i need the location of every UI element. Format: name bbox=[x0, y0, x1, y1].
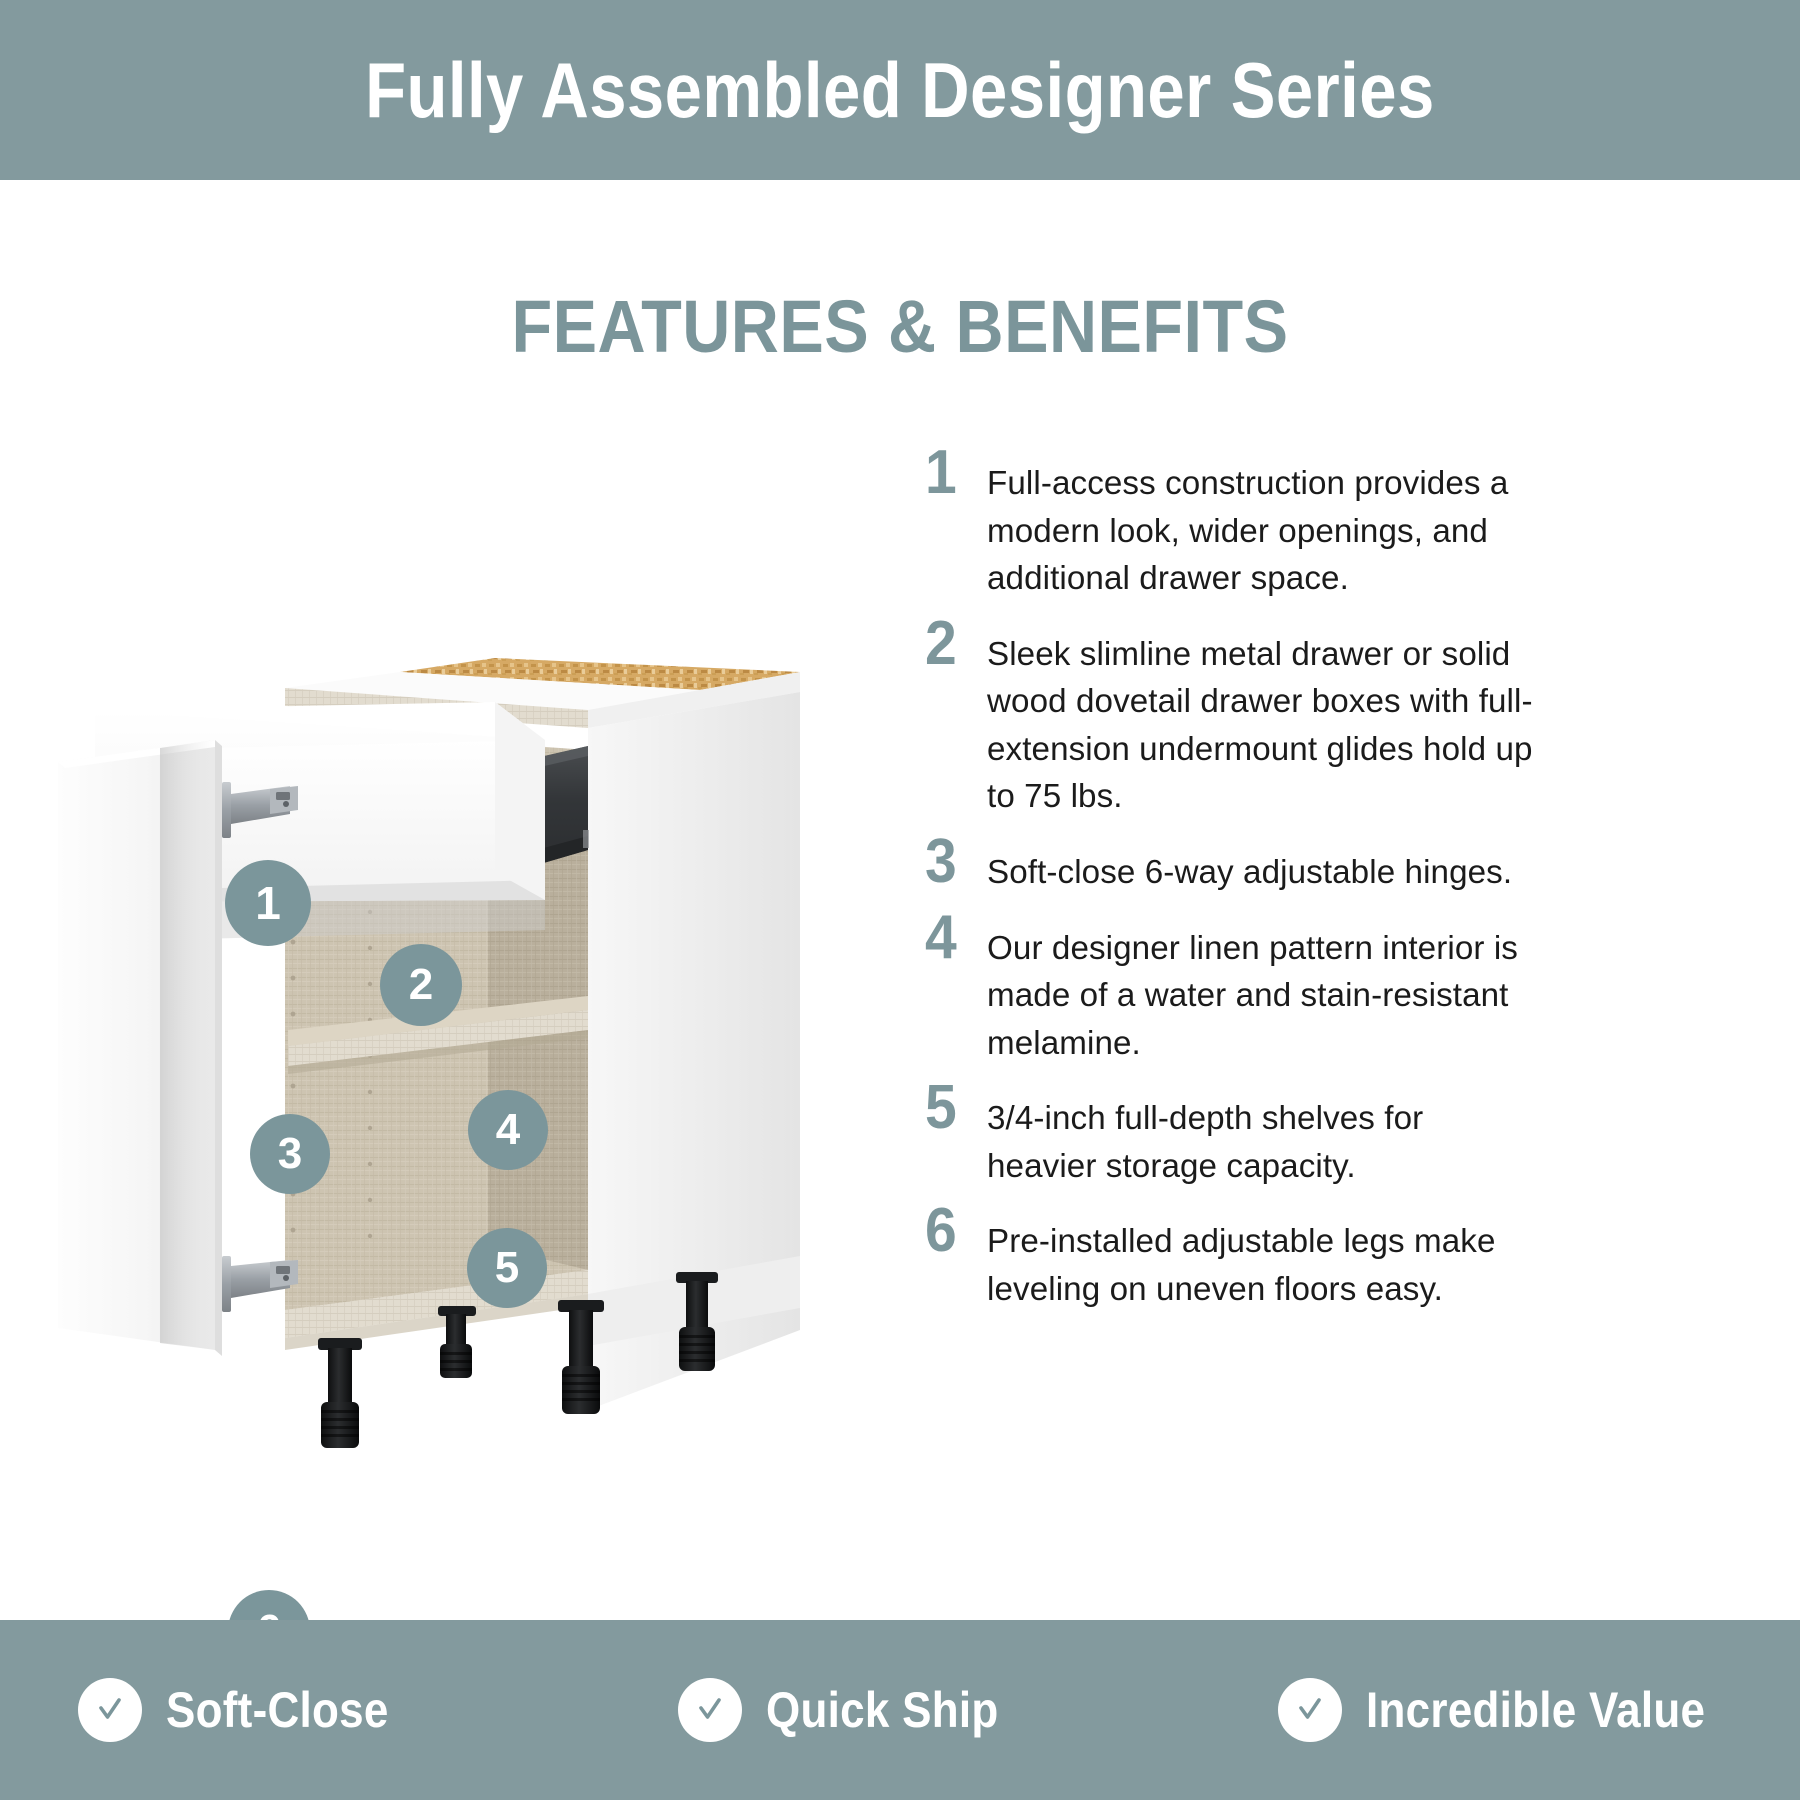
footer-banner: Soft-Close Quick Ship Incredible Value bbox=[0, 1620, 1800, 1800]
callout-badge-2[interactable]: 2 bbox=[380, 944, 462, 1026]
feature-text-1: Full-access construction provides a mode… bbox=[987, 450, 1539, 603]
feature-number-3: 3 bbox=[925, 833, 982, 892]
main-content: FEATURES & BENEFITS bbox=[0, 180, 1800, 1620]
callout-badge-5[interactable]: 5 bbox=[467, 1228, 547, 1308]
feature-number-4: 4 bbox=[925, 909, 982, 968]
callout-badge-1[interactable]: 1 bbox=[225, 860, 311, 946]
check-circle-icon bbox=[78, 1678, 142, 1742]
footer-label-incredible-value: Incredible Value bbox=[1366, 1685, 1705, 1735]
feature-item-3: 3 Soft-close 6-way adjustable hinges. bbox=[925, 839, 1545, 897]
section-heading: FEATURES & BENEFITS bbox=[90, 290, 1710, 364]
feature-number-2: 2 bbox=[925, 615, 982, 674]
feature-item-5: 5 3/4-inch full-depth shelves for heavie… bbox=[925, 1085, 1545, 1190]
feature-text-6: Pre-installed adjustable legs make level… bbox=[987, 1208, 1539, 1313]
footer-item-quick-ship: Quick Ship bbox=[600, 1678, 1200, 1742]
feature-item-6: 6 Pre-installed adjustable legs make lev… bbox=[925, 1208, 1545, 1313]
callout-badge-4[interactable]: 4 bbox=[468, 1090, 548, 1170]
feature-number-1: 1 bbox=[925, 444, 982, 503]
product-illustration: 1 2 3 4 5 6 bbox=[40, 410, 900, 1510]
features-list: 1 Full-access construction provides a mo… bbox=[925, 450, 1545, 1331]
feature-text-5: 3/4-inch full-depth shelves for heavier … bbox=[987, 1085, 1539, 1190]
feature-number-6: 6 bbox=[925, 1202, 982, 1261]
header-banner: Fully Assembled Designer Series bbox=[0, 0, 1800, 180]
feature-item-2: 2 Sleek slimline metal drawer or solid w… bbox=[925, 621, 1545, 821]
cabinet-diagram bbox=[40, 410, 900, 1510]
check-circle-icon bbox=[678, 1678, 742, 1742]
footer-item-incredible-value: Incredible Value bbox=[1200, 1678, 1800, 1742]
footer-label-quick-ship: Quick Ship bbox=[766, 1685, 998, 1735]
footer-label-soft-close: Soft-Close bbox=[166, 1685, 389, 1735]
feature-item-4: 4 Our designer linen pattern interior is… bbox=[925, 915, 1545, 1068]
feature-item-1: 1 Full-access construction provides a mo… bbox=[925, 450, 1545, 603]
feature-text-2: Sleek slimline metal drawer or solid woo… bbox=[987, 621, 1539, 821]
footer-item-soft-close: Soft-Close bbox=[0, 1678, 600, 1742]
leg-front-left bbox=[318, 1338, 362, 1448]
feature-text-3: Soft-close 6-way adjustable hinges. bbox=[987, 839, 1539, 897]
page-title: Fully Assembled Designer Series bbox=[365, 51, 1435, 129]
check-circle-icon bbox=[1278, 1678, 1342, 1742]
callout-badge-3[interactable]: 3 bbox=[250, 1114, 330, 1194]
feature-number-5: 5 bbox=[925, 1079, 982, 1138]
feature-text-4: Our designer linen pattern interior is m… bbox=[987, 915, 1539, 1068]
cabinet-door bbox=[58, 740, 222, 1356]
